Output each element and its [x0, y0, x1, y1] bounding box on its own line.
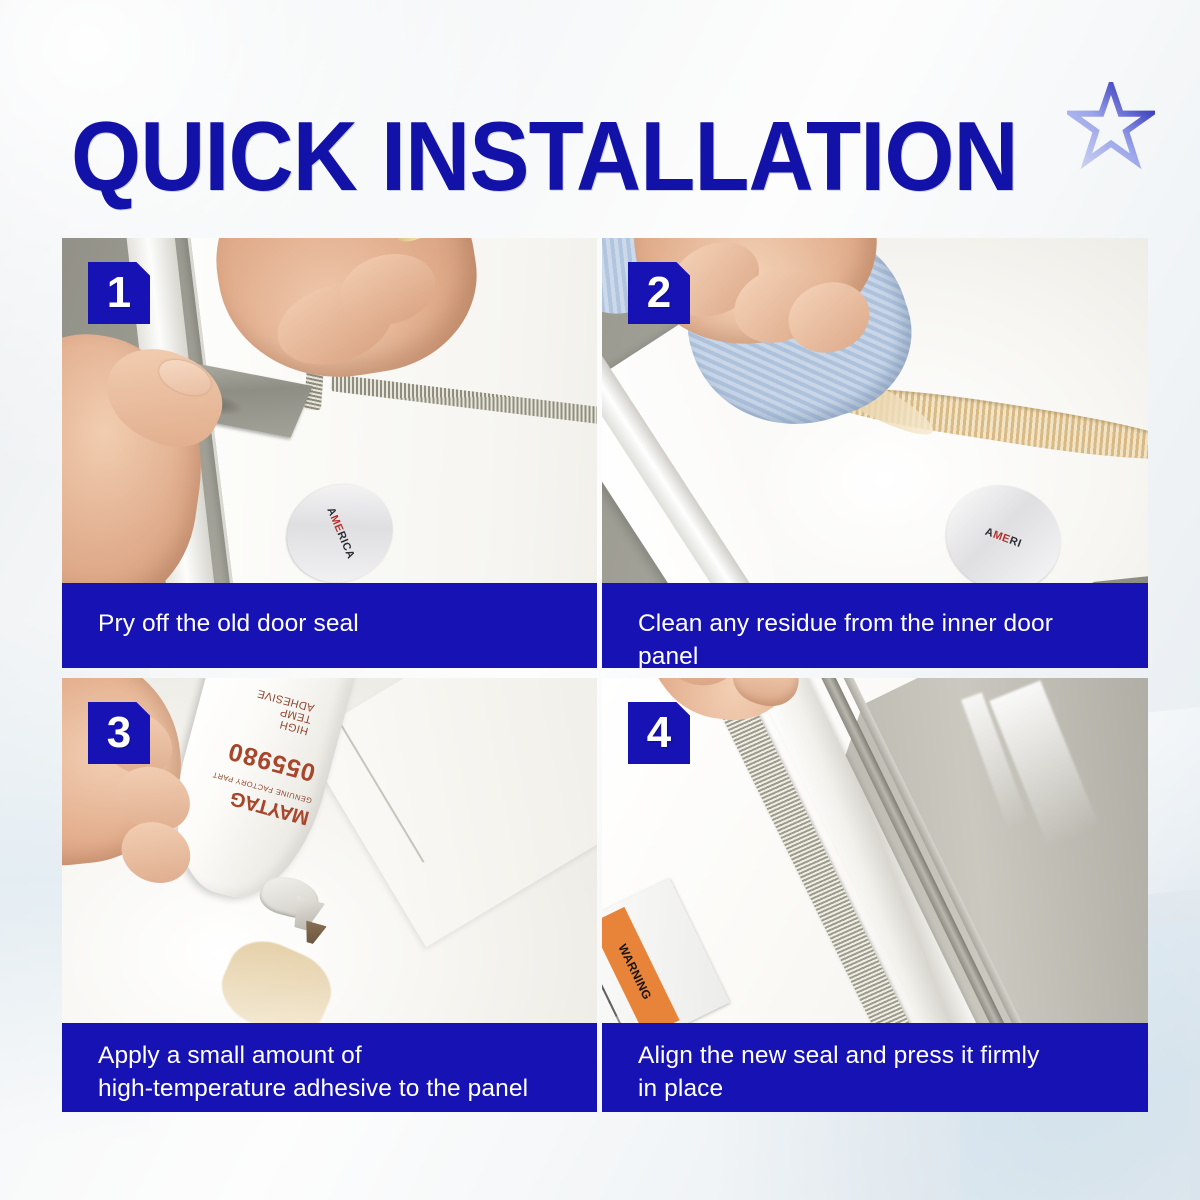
- step-3-caption: Apply a small amount of high-temperature…: [62, 1023, 597, 1112]
- caption-line: Align the new seal and press it firmly: [638, 1039, 1114, 1072]
- step-2-photo: AMERI 2: [602, 238, 1148, 583]
- caption-line: high-temperature adhesive to the panel: [98, 1072, 563, 1105]
- header: QUICK INSTALLATION: [62, 104, 1132, 214]
- step-4-photo: WARNING 4: [602, 678, 1148, 1023]
- caption-line: Clean any residue from the inner door pa…: [638, 607, 1114, 668]
- caption-line: Pry off the old door seal: [98, 607, 563, 640]
- caption-line: Apply a small amount of: [98, 1039, 563, 1072]
- step-number-badge-1: 1: [88, 262, 150, 324]
- star-outline-icon: [1067, 82, 1155, 170]
- page-title: QUICK INSTALLATION: [71, 104, 1018, 208]
- step-card-1: AMERICA 1 Pry off the old door seal: [62, 238, 597, 668]
- step-number-badge-2: 2: [628, 262, 690, 324]
- step-number-badge-4: 4: [628, 702, 690, 764]
- step-4-caption: Align the new seal and press it firmly i…: [602, 1023, 1148, 1112]
- step-card-2: AMERI 2 Clean any residue from the inner…: [602, 238, 1148, 668]
- tube-product-name: HIGH TEMP ADHESIVE: [250, 687, 316, 737]
- step-3-photo: NET WEIGHT 2 OUNCES HIGH TEMP ADHESIVE 0…: [62, 678, 597, 1023]
- steps-grid: AMERICA 1 Pry off the old door seal: [62, 238, 1148, 1112]
- step-card-3: NET WEIGHT 2 OUNCES HIGH TEMP ADHESIVE 0…: [62, 678, 597, 1112]
- step-card-4: WARNING 4 Align the new seal and press i…: [602, 678, 1148, 1112]
- step-2-caption: Clean any residue from the inner door pa…: [602, 583, 1148, 668]
- caption-line: in place: [638, 1072, 1114, 1105]
- step-number-badge-3: 3: [88, 702, 150, 764]
- step-1-photo: AMERICA 1: [62, 238, 597, 583]
- step-1-caption: Pry off the old door seal: [62, 583, 597, 668]
